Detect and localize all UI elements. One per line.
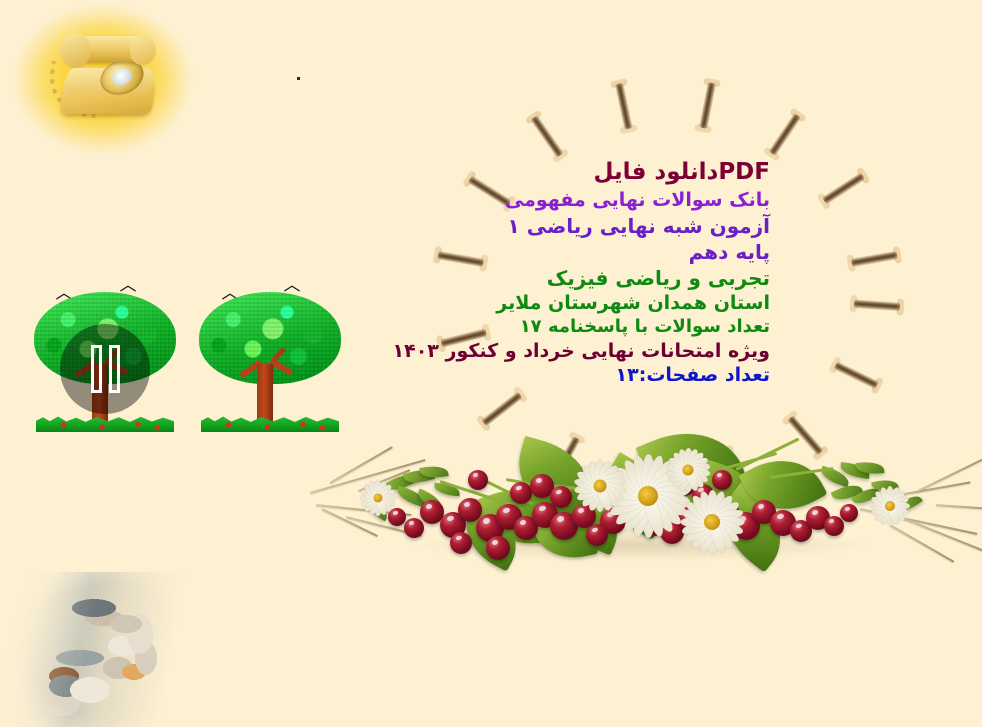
rabbit-fade-overlay [0, 572, 190, 727]
cherry [510, 482, 532, 504]
poster-canvas: ︿ ︿ ︿ ︿ [0, 0, 982, 727]
pdf-label: PDF [718, 158, 770, 188]
daisy-center [374, 494, 383, 503]
poster-line-6: استان همدان شهرستان ملایر [430, 291, 770, 316]
rotary-telephone-icon [44, 30, 164, 125]
cherry [840, 504, 858, 522]
pause-icon [109, 345, 120, 393]
download-label: دانلود فایل [594, 159, 719, 185]
telephone-widget [8, 0, 198, 165]
cherry [550, 486, 572, 508]
cherry [486, 536, 510, 560]
daisy-flower [570, 456, 630, 516]
poster-line-8: ویژه امتحانات نهایی خرداد و کنکور ۱۴۰۳ [430, 339, 770, 364]
daisy-center [594, 480, 607, 493]
cherry [404, 518, 424, 538]
poster-line-7: تعداد سوالات با پاسخنامه ۱۷ [430, 315, 770, 338]
daisy-flower [676, 486, 748, 558]
daisy-center [683, 465, 694, 476]
video-pause-button[interactable] [60, 324, 150, 414]
poster-text-block: PDFدانلود فایل بانک سوالات نهایی مفهومی … [430, 158, 770, 388]
pixel-tree-left [30, 286, 180, 438]
daisy-center [638, 486, 658, 506]
stray-dot [297, 77, 300, 80]
cherry-daisy-garland [300, 412, 982, 617]
cherry [468, 470, 488, 490]
cherry [450, 532, 472, 554]
stone-rabbit-widget [0, 572, 190, 727]
poster-line-1: PDFدانلود فایل [430, 158, 770, 188]
poster-line-3: آزمون شبه نهایی ریاضی ۱ [430, 213, 770, 239]
tree-trunk [257, 364, 273, 426]
daisy-flower [662, 444, 714, 496]
poster-line-5: تجربی و ریاضی فیزیک [430, 265, 770, 291]
poster-line-4: پایه دهم [430, 239, 770, 265]
daisy-center [885, 501, 895, 511]
phone-handset [68, 36, 150, 62]
daisy-center [704, 514, 720, 530]
cherry [824, 516, 844, 536]
daisy-flower [866, 482, 914, 530]
daisy-flower [356, 476, 400, 520]
poster-line-9: تعداد صفحات:۱۳ [430, 363, 770, 388]
poster-line-2: بانک سوالات نهایی مفهومی [430, 188, 770, 213]
garland-twig [936, 504, 982, 510]
pause-icon [91, 345, 102, 393]
